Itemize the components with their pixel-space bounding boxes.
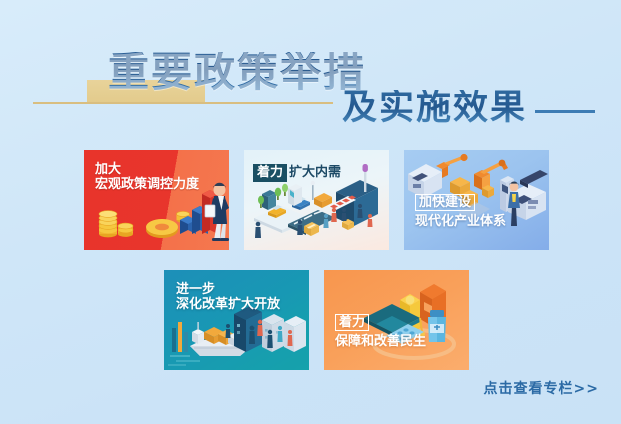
title-gold-rule [33, 102, 333, 104]
card-livelihood-line2: 保障和改善民生 [335, 334, 426, 349]
card-reform-opening-line1: 进一步 [176, 282, 280, 297]
title-block: 重要政策举措 及实施效果 [0, 22, 621, 132]
page-title-main: 重要政策举措 [108, 52, 366, 93]
view-column-link[interactable]: 点击查看专栏>> [484, 378, 599, 398]
page-title-sub: 及实施效果 [342, 90, 527, 125]
card-livelihood-caption: 着力 保障和改善民生 [335, 314, 426, 350]
card-expand-demand-badge: 着力 [253, 164, 287, 182]
card-modern-industry-line2: 现代化产业体系 [415, 214, 506, 229]
card-modern-industry[interactable]: 加快建设 现代化产业体系 [404, 150, 549, 250]
card-livelihood-line1: 着力 [335, 314, 369, 331]
card-modern-industry-caption: 加快建设 现代化产业体系 [415, 194, 506, 230]
title-blue-rule [535, 110, 595, 113]
infographic-banner: 重要政策举措 及实施效果 [0, 0, 621, 424]
card-reform-opening-line2: 深化改革扩大开放 [176, 297, 280, 312]
card-livelihood[interactable]: 着力 保障和改善民生 [324, 270, 469, 370]
card-macro-policy-caption: 加大 宏观政策调控力度 [95, 162, 199, 193]
card-expand-demand[interactable]: 着力扩大内需 [244, 150, 389, 250]
card-expand-demand-line2: 扩大内需 [289, 165, 341, 180]
card-macro-policy-line1: 加大 [95, 162, 199, 177]
card-macro-policy[interactable]: 加大 宏观政策调控力度 [84, 150, 229, 250]
card-expand-demand-caption: 着力扩大内需 [253, 164, 341, 182]
card-reform-opening[interactable]: 进一步 深化改革扩大开放 [164, 270, 309, 370]
card-reform-opening-caption: 进一步 深化改革扩大开放 [176, 282, 280, 313]
card-macro-policy-line2: 宏观政策调控力度 [95, 177, 199, 192]
card-modern-industry-line1: 加快建设 [415, 194, 475, 211]
